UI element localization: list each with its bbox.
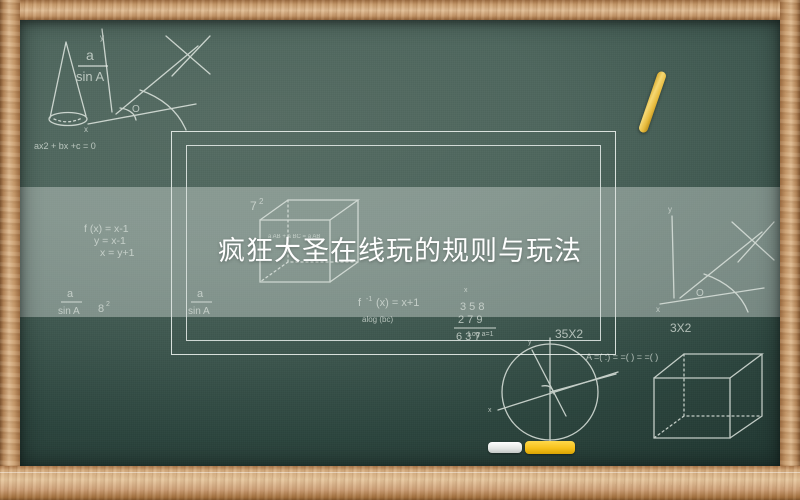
chalkboard-surface: a sin A y x O ax2 + bx +c = 0 f (x) = x-… bbox=[20, 20, 780, 466]
frame-top bbox=[0, 0, 800, 20]
chalk-stick-white-ledge[interactable] bbox=[488, 442, 522, 453]
frame-right bbox=[780, 0, 800, 500]
chalk-stick-yellow-ledge[interactable] bbox=[525, 441, 575, 454]
frame-left bbox=[0, 0, 20, 500]
chalkboard-banner: a sin A y x O ax2 + bx +c = 0 f (x) = x-… bbox=[0, 0, 800, 500]
chalk-ledge bbox=[0, 466, 800, 500]
board-inner-shadow bbox=[20, 20, 780, 466]
